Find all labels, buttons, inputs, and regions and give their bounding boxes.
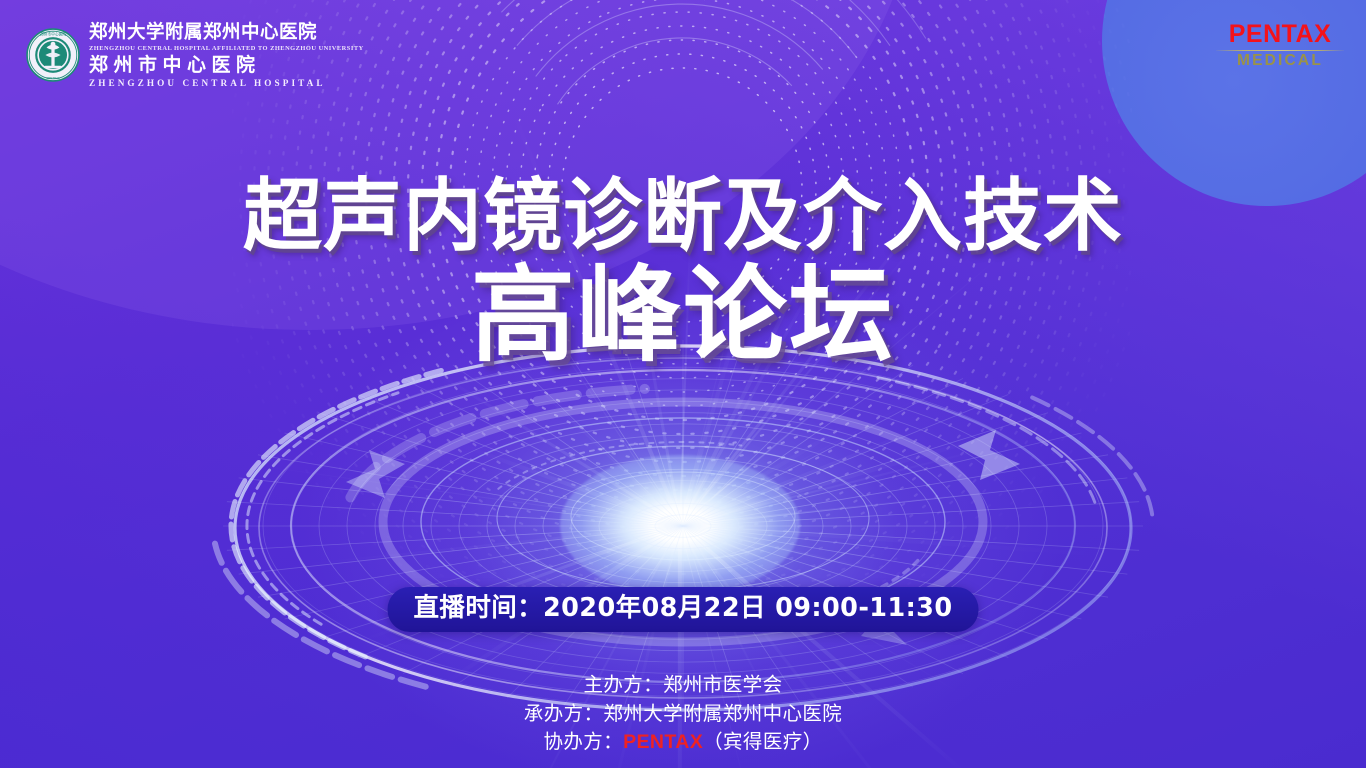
credit-cosponsor: 协办方：PENTAX（宾得医疗） [0, 728, 1366, 757]
hospital-logo: 郑州市中心医院 CENTRAL 郑州大学附属郑州中心医院 ZHENGZHOU C… [26, 22, 364, 88]
hospital-name-block: 郑州大学附属郑州中心医院 ZHENGZHOU CENTRAL HOSPITAL … [89, 22, 364, 88]
credit-cosponsor-label: 协办方： [543, 730, 623, 753]
page-title-line2: 高峰论坛 [0, 261, 1366, 369]
title-block: 超声内镜诊断及介入技术 高峰论坛 [0, 176, 1366, 370]
hospital-name-en-primary: ZHENGZHOU CENTRAL HOSPITAL AFFILIATED TO… [89, 46, 364, 52]
svg-text:CENTRAL: CENTRAL [46, 76, 60, 80]
credit-host: 承办方：郑州大学附属郑州中心医院 [0, 700, 1366, 729]
credit-cosponsor-brand: PENTAX [623, 731, 703, 753]
pentax-medical-logo: PENTAX MEDICAL [1216, 22, 1344, 69]
broadcast-time-badge: 直播时间：2020年08月22日 09:00-11:30 [388, 587, 979, 632]
hospital-emblem-icon: 郑州市中心医院 CENTRAL [26, 28, 80, 82]
pentax-divider-rule [1216, 50, 1344, 51]
credit-organizer: 主办方：郑州市医学会 [0, 671, 1366, 700]
hospital-name-cn-primary: 郑州大学附属郑州中心医院 [89, 24, 364, 43]
event-poster: 郑州市中心医院 CENTRAL 郑州大学附属郑州中心医院 ZHENGZHOU C… [0, 0, 1366, 768]
hospital-name-en-secondary: ZHENGZHOU CENTRAL HOSPITAL [89, 79, 364, 88]
pentax-brand-text: PENTAX [1216, 22, 1344, 47]
hospital-name-cn-secondary: 郑州市中心医院 [89, 56, 364, 75]
broadcast-time-text: 直播时间：2020年08月22日 09:00-11:30 [414, 594, 953, 623]
page-title-line1: 超声内镜诊断及介入技术 [0, 176, 1366, 257]
svg-text:郑州市中心医院: 郑州市中心医院 [40, 32, 67, 37]
credits-block: 主办方：郑州市医学会 承办方：郑州大学附属郑州中心医院 协办方：PENTAX（宾… [0, 671, 1366, 757]
credit-cosponsor-tail: （宾得医疗） [703, 730, 822, 753]
pentax-sub-text: MEDICAL [1216, 53, 1344, 69]
